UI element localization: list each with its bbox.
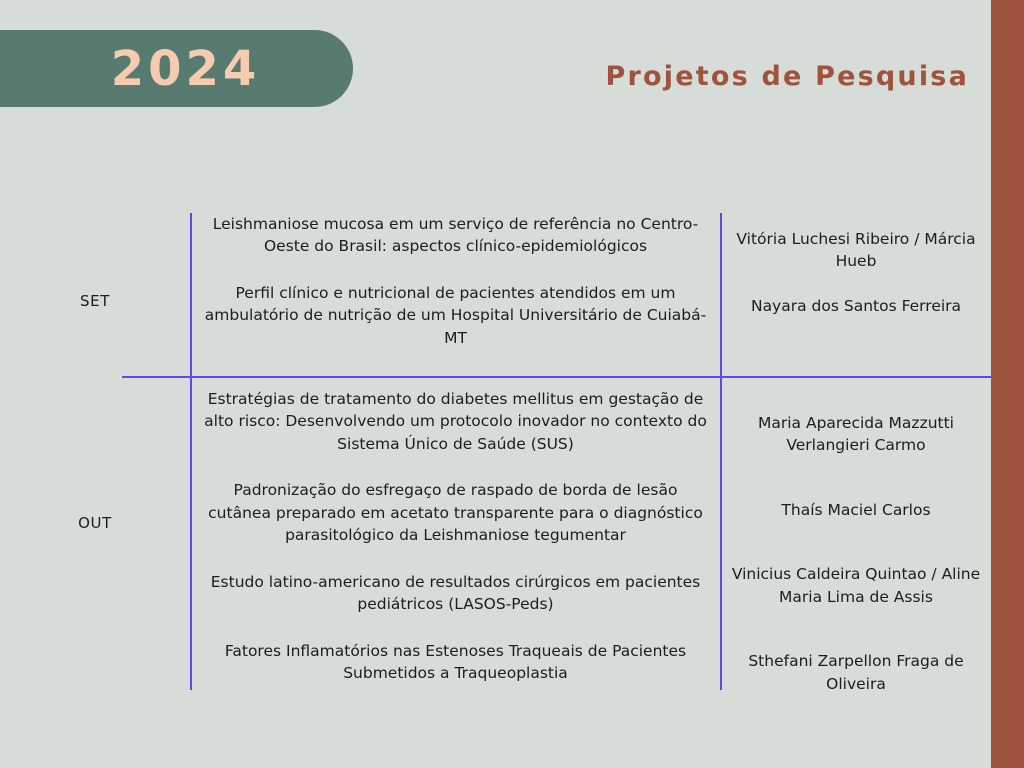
project-title: Fatores Inflamatórios nas Estenoses Traq… xyxy=(203,640,708,685)
schedule-table: SET OUT Leishmaniose mucosa em um serviç… xyxy=(0,0,991,768)
month-label-set: SET xyxy=(0,292,190,310)
project-title: Perfil clínico e nutricional de paciente… xyxy=(203,282,708,349)
project-title: Leishmaniose mucosa em um serviço de ref… xyxy=(203,213,708,258)
project-title: Padronização do esfregaço de raspado de … xyxy=(203,479,708,546)
project-titles-out: Estratégias de tratamento do diabetes me… xyxy=(191,388,720,685)
month-row-divider xyxy=(122,376,991,378)
researcher-name: Sthefani Zarpellon Fraga de Oliveira xyxy=(731,650,981,695)
researcher-name: Thaís Maciel Carlos xyxy=(731,499,981,521)
researchers-set: Vitória Luchesi Ribeiro / Márcia Hueb Na… xyxy=(721,228,991,339)
month-label-out: OUT xyxy=(0,514,190,532)
right-accent-bar xyxy=(991,0,1024,768)
researcher-name: Nayara dos Santos Ferreira xyxy=(731,295,981,317)
researcher-name: Vinicius Caldeira Quintao / Aline Maria … xyxy=(731,563,981,608)
researcher-name: Maria Aparecida Mazzutti Verlangieri Car… xyxy=(731,412,981,457)
project-title: Estratégias de tratamento do diabetes me… xyxy=(203,388,708,455)
project-title: Estudo latino-americano de resultados ci… xyxy=(203,571,708,616)
researchers-out: Maria Aparecida Mazzutti Verlangieri Car… xyxy=(721,412,991,737)
researcher-name: Vitória Luchesi Ribeiro / Márcia Hueb xyxy=(731,228,981,273)
project-titles-set: Leishmaniose mucosa em um serviço de ref… xyxy=(191,213,720,349)
